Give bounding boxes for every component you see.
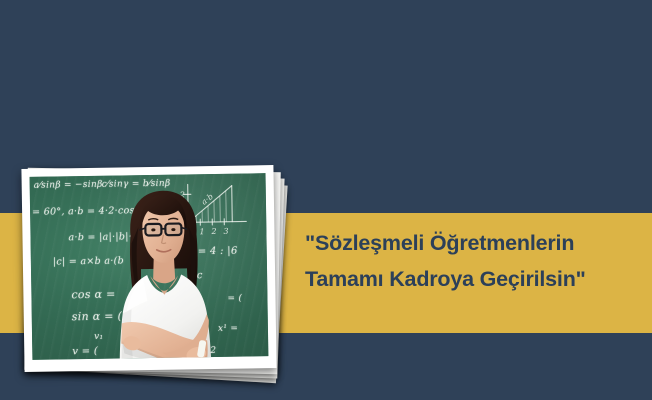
headline-line-1: "Sözleşmeli Öğretmenlerin <box>305 231 574 255</box>
svg-text:3: 3 <box>223 227 228 236</box>
banner-canvas: "Sözleşmeli Öğretmenlerin Tamamı Kadroya… <box>0 0 652 400</box>
teacher-figure <box>108 182 221 360</box>
chalk-formula: a⁄sinβ = −sinβ <box>34 180 103 191</box>
photo-card-stack: a⁄sinβ = −sinβc⁄sinγ = b⁄sinβ= 60°, a·b … <box>20 160 290 385</box>
headline: "Sözleşmeli Öğretmenlerin Tamamı Kadroya… <box>305 225 650 297</box>
headline-line-2: Tamamı Kadroya Geçirilsin" <box>305 261 650 297</box>
chalk-formula: x¹ = <box>218 324 238 334</box>
teacher-photo: a⁄sinβ = −sinβc⁄sinγ = b⁄sinβ= 60°, a·b … <box>30 173 269 360</box>
chalk-formula: v₁ <box>94 332 103 342</box>
chalk-formula: = ( <box>227 294 242 304</box>
photo-frame: a⁄sinβ = −sinβc⁄sinγ = b⁄sinβ= 60°, a·b … <box>21 165 276 372</box>
chalk-formula: v = ( <box>72 346 98 357</box>
